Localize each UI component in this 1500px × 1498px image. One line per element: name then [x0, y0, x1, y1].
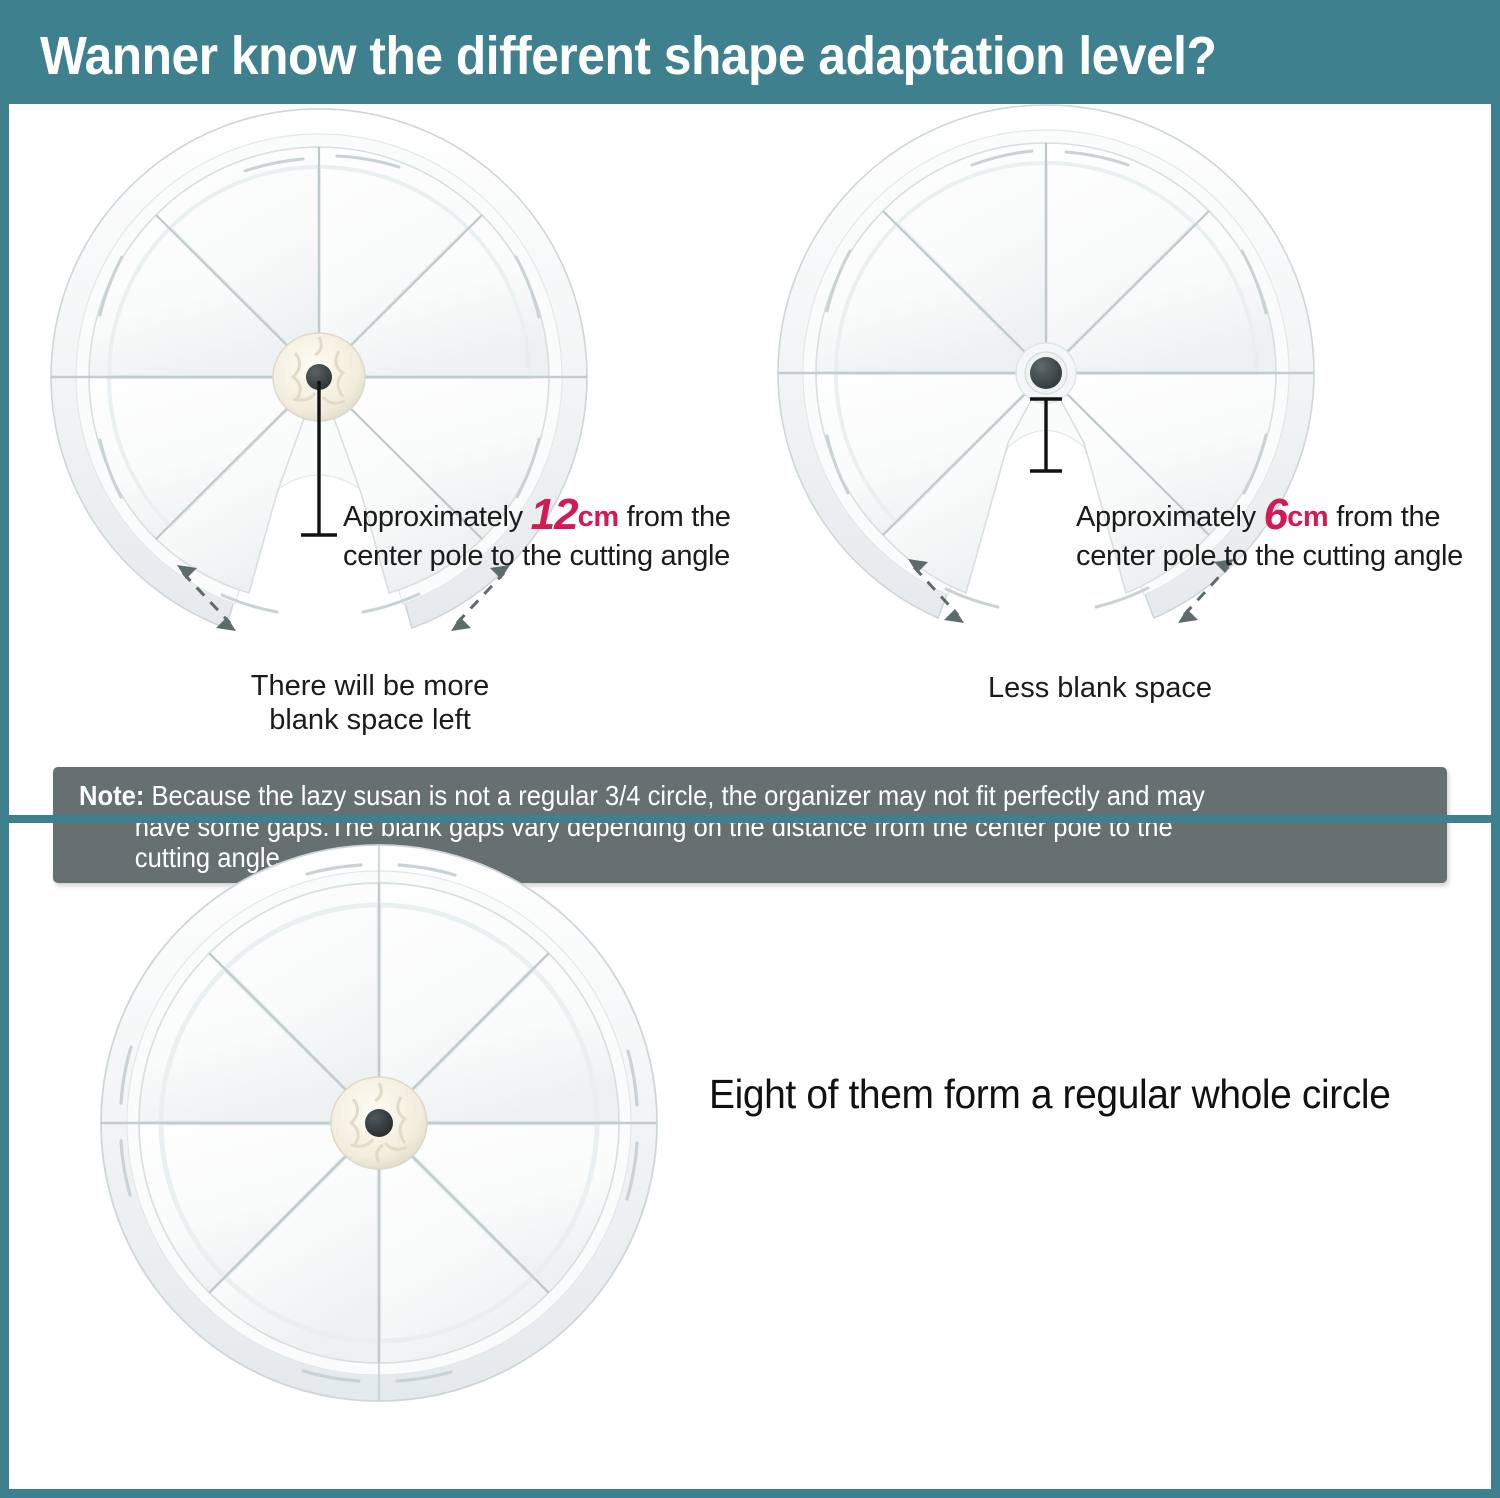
whole-circle-caption: Eight of them form a regular whole circl…: [709, 1071, 1390, 1118]
center-pole-hole: [1030, 357, 1062, 389]
right-diagram-6cm: Approximately 6cm from the center pole t…: [724, 97, 1465, 737]
measure-unit: cm: [1287, 501, 1328, 533]
full-circle-illustration: [69, 823, 689, 1423]
measure-value: 12: [531, 490, 578, 539]
left-organizer-illustration: [9, 97, 750, 737]
center-hub: [331, 1077, 427, 1169]
left-diagram-12cm: Approximately 12cm from the center pole …: [9, 97, 750, 737]
organizer-svg-full: [69, 823, 689, 1423]
infographic-page: Wanner know the different shape adaptati…: [0, 0, 1500, 1498]
measure-label-12cm: Approximately 12cm from the center pole …: [343, 489, 731, 574]
right-organizer-illustration: [724, 97, 1465, 737]
center-pole-hole: [365, 1109, 393, 1137]
note-label: Note:: [79, 780, 144, 811]
measure-suffix-1: from the: [1336, 501, 1440, 533]
measure-suffix-2: center pole to the cutting angle: [1076, 540, 1463, 572]
note-line-1: Note: Because the lazy susan is not a re…: [79, 781, 1327, 812]
comparison-section: Approximately 12cm from the center pole …: [9, 97, 1491, 815]
page-title: Wanner know the different shape adaptati…: [40, 25, 1216, 87]
center-hub: [1016, 343, 1076, 403]
organizer-svg-right: [724, 97, 1465, 737]
blank-space-caption-left: There will be more blank space left: [205, 669, 535, 737]
measure-suffix-2: center pole to the cutting angle: [343, 540, 730, 572]
measure-suffix-1: from the: [627, 501, 731, 533]
measure-prefix: Approximately: [343, 501, 523, 533]
measure-unit: cm: [578, 501, 619, 533]
measure-prefix: Approximately: [1076, 501, 1256, 533]
measure-value: 6: [1264, 490, 1287, 539]
measure-label-6cm: Approximately 6cm from the center pole t…: [1076, 489, 1463, 574]
header-banner: Wanner know the different shape adaptati…: [8, 8, 1500, 104]
section-divider: [9, 815, 1491, 823]
note-text-1: Because the lazy susan is not a regular …: [151, 780, 1204, 811]
organizer-svg-left: [9, 97, 750, 737]
blank-space-caption-right: Less blank space: [940, 671, 1260, 705]
whole-circle-section: Eight of them form a regular whole circl…: [9, 823, 1491, 1491]
